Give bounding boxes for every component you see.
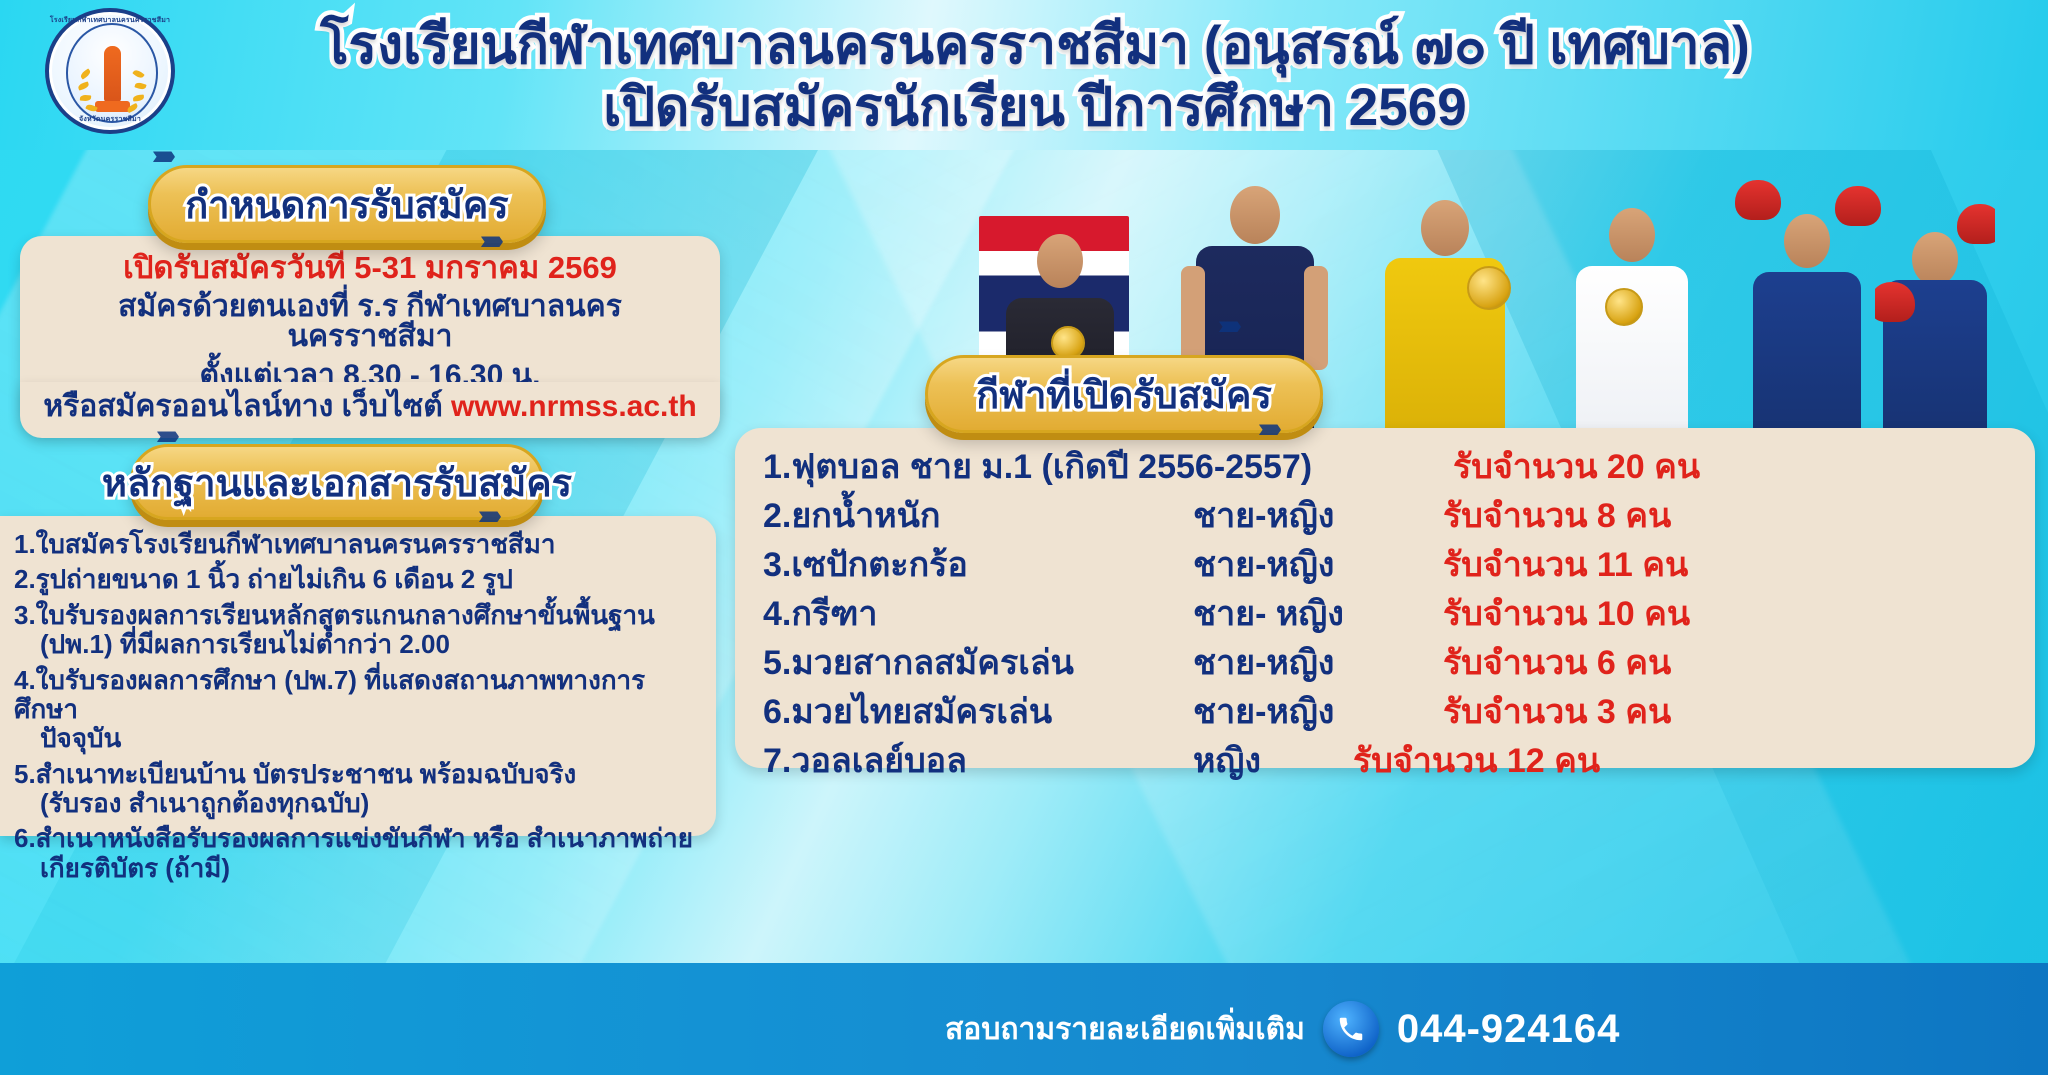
sport-name: 6.มวยไทยสมัครเล่น (763, 695, 1193, 729)
document-item-main: 3.ใบรับรองผลการเรียนหลักสูตรแกนกลางศึกษา… (14, 600, 655, 630)
logo-wreath-right-icon (119, 67, 146, 105)
contact-ask-label: สอบถามรายละเอียดเพิ่มเติม (945, 1006, 1305, 1053)
sport-name: 2.ยกน้ำหนัก (763, 499, 1193, 533)
document-item-sub: (รับรอง สำเนาถูกต้องทุกฉบับ) (14, 789, 702, 818)
sport-row: 5.มวยสากลสมัครเล่น ชาย-หญิง รับจำนวน 6 ค… (763, 646, 2035, 680)
sports-panel: 1.ฟุตบอล ชาย ม.1 (เกิดปี 2556-2557) รับจ… (735, 428, 2035, 768)
athlete-boxer-female (1727, 180, 1887, 458)
documents-header-label: หลักฐานและเอกสารรับสมัคร (102, 452, 572, 513)
schedule-header-label: กำหนดการรับสมัคร (185, 174, 508, 235)
chevron-schedule-bottom: ›››››› (480, 225, 498, 256)
sport-row: 3.เซปักตะกร้อ ชาย-หญิง รับจำนวน 11 คน (763, 548, 2035, 582)
chevron-sports-top: ›››››› (1218, 310, 1236, 341)
sport-name: 4.กรีฑา (763, 597, 1193, 631)
sport-row: 1.ฟุตบอล ชาย ม.1 (เกิดปี 2556-2557) รับจ… (763, 450, 2035, 484)
sport-gender: หญิง (1193, 744, 1353, 778)
document-item: 5.สำเนาทะเบียนบ้าน บัตรประชาชน พร้อมฉบับ… (14, 760, 702, 819)
title-line-1: โรงเรียนกีฬาเทศบาลนครนครราชสีมา (อนุสรณ์… (190, 18, 1880, 74)
document-item: 4.ใบรับรองผลการศึกษา (ปพ.7) ที่แสดงสถานภ… (14, 666, 702, 754)
sport-gender: ชาย- หญิง (1193, 597, 1443, 631)
document-item: 2.รูปถ่ายขนาด 1 นิ้ว ถ่ายไม่เกิน 6 เดือน… (14, 565, 702, 594)
chevron-sports-bottom: ›››››› (1258, 413, 1276, 444)
sport-row: 4.กรีฑา ชาย- หญิง รับจำนวน 10 คน (763, 597, 2035, 631)
document-item: 1.ใบสมัครโรงเรียนกีฬาเทศบาลนครนครราชสีมา (14, 530, 702, 559)
sport-row: 6.มวยไทยสมัครเล่น ชาย-หญิง รับจำนวน 3 คน (763, 695, 2035, 729)
document-item-main: 1.ใบสมัครโรงเรียนกีฬาเทศบาลนครนครราชสีมา (14, 529, 556, 559)
logo-wreath-left-icon (78, 67, 105, 105)
sport-quota: รับจำนวน 12 คน (1353, 744, 1600, 778)
chevron-schedule-top: ›››››› (152, 140, 170, 171)
schedule-online-panel: หรือสมัครออนไลน์ทาง เว็บไซต์ www.nrmss.a… (20, 382, 720, 438)
athlete-boxer-male (1875, 190, 1995, 458)
document-item-sub: เกียรติบัตร (ถ้ามี) (14, 854, 702, 883)
document-item-sub: ปัจจุบัน (14, 724, 702, 753)
document-item-sub: (ปพ.1) ที่มีผลการเรียนไม่ต่ำกว่า 2.00 (14, 630, 702, 659)
contact-phone-number[interactable]: 044-924164 (1397, 1007, 1621, 1052)
online-prefix-label: หรือสมัครออนไลน์ทาง เว็บไซต์ (43, 390, 451, 423)
document-item-main: 5.สำเนาทะเบียนบ้าน บัตรประชาชน พร้อมฉบับ… (14, 759, 576, 789)
title-line-2: เปิดรับสมัครนักเรียน ปีการศึกษา 2569 (190, 80, 1880, 136)
contact-bar: สอบถามรายละเอียดเพิ่มเติม 044-924164 (945, 1001, 1620, 1057)
sport-name: 1.ฟุตบอล ชาย ม.1 (เกิดปี 2556-2557) (763, 450, 1453, 484)
sport-name: 3.เซปักตะกร้อ (763, 548, 1193, 582)
schedule-line-location: สมัครด้วยตนเองที่ ร.ร กีฬาเทศบาลนครนครรา… (38, 292, 702, 352)
sport-quota: รับจำนวน 8 คน (1443, 499, 1671, 533)
sport-quota: รับจำนวน 6 คน (1443, 646, 1671, 680)
schedule-line-online: หรือสมัครออนไลน์ทาง เว็บไซต์ www.nrmss.a… (20, 382, 720, 422)
phone-icon[interactable] (1323, 1001, 1379, 1057)
sport-quota: รับจำนวน 10 คน (1443, 597, 1690, 631)
schedule-line-dates: เปิดรับสมัครวันที่ 5-31 มกราคม 2569 (38, 252, 702, 283)
sport-quota: รับจำนวน 3 คน (1443, 695, 1671, 729)
sport-quota: รับจำนวน 20 คน (1453, 450, 1700, 484)
document-item-main: 4.ใบรับรองผลการศึกษา (ปพ.7) ที่แสดงสถานภ… (14, 665, 645, 724)
sport-gender: ชาย-หญิง (1193, 695, 1443, 729)
document-item-main: 6.สำเนาหนังสือรับรองผลการแข่งขันกีฬา หรื… (14, 823, 693, 853)
sport-row: 7.วอลเลย์บอล หญิง รับจำนวน 12 คน (763, 744, 2035, 778)
documents-panel: 1.ใบสมัครโรงเรียนกีฬาเทศบาลนครนครราชสีมา… (0, 516, 716, 836)
sport-quota: รับจำนวน 11 คน (1443, 548, 1688, 582)
chevron-docs-bottom: ›››››› (478, 500, 496, 531)
sport-gender: ชาย-หญิง (1193, 646, 1443, 680)
athlete-medalist (1355, 190, 1535, 458)
sport-name: 7.วอลเลย์บอล (763, 744, 1193, 778)
sport-gender: ชาย-หญิง (1193, 548, 1443, 582)
sports-header-label: กีฬาที่เปิดรับสมัคร (976, 364, 1272, 425)
online-url-link[interactable]: www.nrmss.ac.th (451, 390, 697, 423)
athlete-female-medalist (1547, 196, 1717, 458)
sport-gender: ชาย-หญิง (1193, 499, 1443, 533)
chevron-docs-top: ›››››› (156, 420, 174, 451)
document-item: 6.สำเนาหนังสือรับรองผลการแข่งขันกีฬา หรื… (14, 824, 702, 883)
document-item-main: 2.รูปถ่ายขนาด 1 นิ้ว ถ่ายไม่เกิน 6 เดือน… (14, 564, 513, 594)
logo-bottom-text: จังหวัดนครราชสีมา (45, 114, 175, 125)
sport-row: 2.ยกน้ำหนัก ชาย-หญิง รับจำนวน 8 คน (763, 499, 2035, 533)
school-logo: โรงเรียนกีฬาเทศบาลนครนครราชสีมา จังหวัดน… (45, 8, 175, 134)
document-item: 3.ใบรับรองผลการเรียนหลักสูตรแกนกลางศึกษา… (14, 601, 702, 660)
logo-inner-circle (66, 23, 158, 123)
poster-headline: โรงเรียนกีฬาเทศบาลนครนครราชสีมา (อนุสรณ์… (190, 18, 1880, 136)
sport-name: 5.มวยสากลสมัครเล่น (763, 646, 1193, 680)
